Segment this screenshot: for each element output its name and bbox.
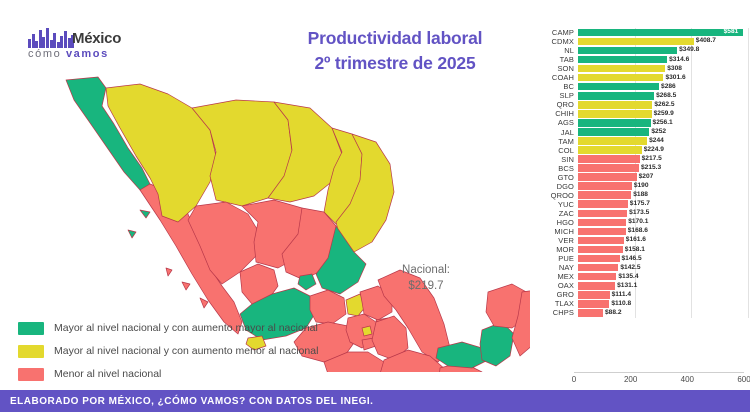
- chart-bar[interactable]: [578, 155, 640, 163]
- chart-gridline: [691, 200, 692, 209]
- chart-row-barzone: $188: [578, 191, 744, 200]
- chart-row-label: OAX: [528, 281, 578, 290]
- chart-row-barzone: $142.5: [578, 263, 744, 272]
- chart-row-barzone: $217.5: [578, 155, 744, 164]
- chart-bar-value: $262.5: [654, 101, 674, 109]
- chart-row-label: GTO: [528, 173, 578, 182]
- x-axis-ticks: 0200400600: [574, 373, 744, 387]
- chart-row-label: MOR: [528, 245, 578, 254]
- chart-row-barzone: $88.2: [578, 308, 744, 317]
- chart-row-label: SLP: [528, 91, 578, 100]
- chart-bar[interactable]: [578, 219, 626, 227]
- chart-row: CHIH$259.9: [528, 109, 744, 118]
- logo-bar: [28, 39, 31, 48]
- island-c: [166, 268, 172, 276]
- chart-row-barzone: $146.5: [578, 254, 744, 263]
- chart-row-barzone: $262.5: [578, 100, 744, 109]
- chart-row: QROO$188: [528, 191, 744, 200]
- chart-row-label: BCS: [528, 164, 578, 173]
- logo-bar: [42, 37, 45, 48]
- state-cdmx: [362, 326, 372, 336]
- chart-row: BC$286: [528, 82, 744, 91]
- chart-row-barzone: $158.1: [578, 245, 744, 254]
- chart-bar[interactable]: [578, 309, 603, 317]
- chart-row-label: TAM: [528, 137, 578, 146]
- chart-bar[interactable]: [578, 291, 610, 299]
- chart-gridline: [691, 146, 692, 155]
- chart-bar-value: $173.5: [629, 209, 649, 217]
- chart-row-label: COL: [528, 146, 578, 155]
- chart-gridline: [691, 109, 692, 118]
- legend-item-green: Mayor al nivel nacional y con aumento ma…: [18, 318, 318, 338]
- chart-row: COAH$301.6: [528, 73, 744, 82]
- legend-label-red: Menor al nivel nacional: [54, 368, 161, 380]
- chart-row: OAX$131.1: [528, 281, 744, 290]
- chart-gridline: [748, 28, 749, 37]
- chart-row-barzone: $175.7: [578, 200, 744, 209]
- chart-gridline: [748, 263, 749, 272]
- chart-row: DGO$190: [528, 182, 744, 191]
- chart-row-barzone: $244: [578, 137, 744, 146]
- chart-bar-value: $256.1: [653, 119, 673, 127]
- chart-row-barzone: $314.6: [578, 55, 744, 64]
- chart-bar[interactable]: [578, 29, 743, 37]
- chart-row: SIN$217.5: [528, 155, 744, 164]
- chart-bar-value: $286: [661, 83, 676, 91]
- legend-item-red: Menor al nivel nacional: [18, 364, 318, 384]
- chart-gridline: [691, 236, 692, 245]
- chart-gridline: [748, 200, 749, 209]
- chart-row-label: CHPS: [528, 308, 578, 317]
- chart-bar-value: $158.1: [625, 246, 645, 254]
- chart-row-barzone: $215.3: [578, 164, 744, 173]
- legend-swatch-yellow: [18, 345, 44, 358]
- chart-bar[interactable]: [578, 83, 659, 91]
- chart-gridline: [691, 128, 692, 137]
- chart-row-label: TAB: [528, 55, 578, 64]
- chart-row: BCS$215.3: [528, 164, 744, 173]
- chart-gridline: [635, 308, 636, 317]
- chart-bar[interactable]: [578, 47, 677, 55]
- chart-gridline: [691, 164, 692, 173]
- chart-row-barzone: $131.1: [578, 281, 744, 290]
- chart-bar-value: $252: [651, 128, 666, 136]
- chart-gridline: [691, 299, 692, 308]
- chart-row: TAM$244: [528, 137, 744, 146]
- chart-row-barzone: $111.4: [578, 290, 744, 299]
- slide-root: México cómo vamos Productividad laboral …: [0, 0, 750, 412]
- chart-row-barzone: $268.5: [578, 91, 744, 100]
- chart-row-label: QRO: [528, 100, 578, 109]
- chart-row-barzone: $581: [578, 28, 744, 37]
- chart-bar[interactable]: [578, 264, 618, 272]
- chart-bar[interactable]: [578, 228, 626, 236]
- chart-gridline: [748, 155, 749, 164]
- chart-row-label: GRO: [528, 290, 578, 299]
- chart-row-label: VER: [528, 236, 578, 245]
- chart-row-barzone: $207: [578, 173, 744, 182]
- chart-bar-value: $268.5: [656, 92, 676, 100]
- legend-label-yellow: Mayor al nivel nacional y con aumento me…: [54, 345, 318, 357]
- chart-bar-value: $301.6: [665, 74, 685, 82]
- chart-gridline: [691, 290, 692, 299]
- logo-bar: [68, 38, 71, 48]
- chart-gridline: [691, 155, 692, 164]
- chart-bar-value: $146.5: [622, 255, 642, 263]
- chart-row-barzone: $408.7: [578, 37, 744, 46]
- chart-bar-value: $175.7: [630, 200, 650, 208]
- chart-bar[interactable]: [578, 273, 616, 281]
- chart-gridline: [691, 263, 692, 272]
- chart-gridline: [748, 227, 749, 236]
- mexico-como-vamos-logo: México cómo vamos: [28, 26, 158, 66]
- chart-gridline: [691, 218, 692, 227]
- chart-gridline: [691, 64, 692, 73]
- national-amount: $219.7: [378, 278, 474, 294]
- legend-label-green: Mayor al nivel nacional y con aumento ma…: [54, 322, 318, 334]
- chart-gridline: [691, 191, 692, 200]
- chart-bar[interactable]: [578, 92, 654, 100]
- legend-item-yellow: Mayor al nivel nacional y con aumento me…: [18, 341, 318, 361]
- chart-row: GTO$207: [528, 173, 744, 182]
- chart-row: JAL$252: [528, 128, 744, 137]
- chart-row: SON$308: [528, 64, 744, 73]
- chart-gridline: [748, 245, 749, 254]
- chart-row-barzone: $256.1: [578, 118, 744, 127]
- chart-bar[interactable]: [578, 128, 649, 136]
- chart-bar-value: $110.8: [611, 300, 631, 308]
- x-axis-tick: 0: [572, 375, 576, 384]
- chart-bar[interactable]: [578, 200, 628, 208]
- chart-row: MICH$168.6: [528, 227, 744, 236]
- chart-bar[interactable]: [578, 101, 652, 109]
- chart-row: ZAC$173.5: [528, 209, 744, 218]
- chart-row-barzone: $308: [578, 64, 744, 73]
- chart-row-label: DGO: [528, 182, 578, 191]
- chart-gridline: [691, 254, 692, 263]
- chart-row-label: SON: [528, 64, 578, 73]
- chart-gridline: [691, 227, 692, 236]
- chart-row-barzone: $170.1: [578, 218, 744, 227]
- chart-bar-value: $207: [639, 173, 654, 181]
- source-footer: ELABORADO POR MÉXICO, ¿CÓMO VAMOS? CON D…: [0, 390, 750, 412]
- chart-bar-value: $142.5: [620, 264, 640, 272]
- logo-bar: [39, 30, 42, 48]
- chart-bar[interactable]: [578, 38, 694, 46]
- chart-row-barzone: $349.8: [578, 46, 744, 55]
- chart-gridline: [748, 55, 749, 64]
- chart-gridline: [691, 55, 692, 64]
- chart-row-barzone: $259.9: [578, 109, 744, 118]
- logo-bar: [46, 28, 49, 48]
- chart-row: CDMX$408.7: [528, 37, 744, 46]
- logo-title: México: [72, 30, 121, 47]
- chart-gridline: [691, 281, 692, 290]
- chart-bar-value: $314.6: [669, 56, 689, 64]
- chart-row-label: QROO: [528, 191, 578, 200]
- chart-row: COL$224.9: [528, 146, 744, 155]
- chart-row-label: CAMP: [528, 28, 578, 37]
- logo-bar: [64, 31, 67, 48]
- chart-row-barzone: $224.9: [578, 146, 744, 155]
- chart-row-label: ZAC: [528, 209, 578, 218]
- chart-row: TAB$314.6: [528, 55, 744, 64]
- island-b: [128, 230, 136, 238]
- chart-gridline: [748, 173, 749, 182]
- chart-bar-value: $349.8: [679, 46, 699, 54]
- chart-bar-value: $111.4: [612, 291, 631, 299]
- legend-swatch-green: [18, 322, 44, 335]
- island-e: [200, 298, 208, 308]
- chart-gridline: [748, 308, 749, 317]
- chart-gridline: [748, 191, 749, 200]
- chart-row-label: NAY: [528, 263, 578, 272]
- chart-bar-value: $131.1: [617, 282, 637, 290]
- logo-bar: [53, 33, 56, 48]
- chart-bar[interactable]: [578, 182, 632, 190]
- chart-gridline: [748, 37, 749, 46]
- chart-gridline: [748, 209, 749, 218]
- chart-gridline: [691, 245, 692, 254]
- x-axis-tick: 600: [737, 375, 750, 384]
- chart-gridline: [691, 91, 692, 100]
- chart-row-label: TLAX: [528, 299, 578, 308]
- chart-row-barzone: $301.6: [578, 73, 744, 82]
- chart-gridline: [691, 100, 692, 109]
- chart-gridline: [748, 128, 749, 137]
- chart-bar-value: $224.9: [644, 146, 664, 154]
- chart-bar[interactable]: [578, 74, 663, 82]
- productivity-bar-chart: CAMP$581CDMX$408.7NL$349.8TAB$314.6SON$3…: [528, 28, 744, 380]
- chart-gridline: [691, 73, 692, 82]
- chart-row-label: BC: [528, 82, 578, 91]
- chart-gridline: [748, 64, 749, 73]
- chart-bar[interactable]: [578, 282, 615, 290]
- chart-bar-value: $217.5: [642, 155, 662, 163]
- island-d: [182, 282, 190, 290]
- chart-bar-value: $581: [724, 28, 739, 36]
- chart-row-label: COAH: [528, 73, 578, 82]
- chart-row: PUE$146.5: [528, 254, 744, 263]
- chart-gridline: [748, 100, 749, 109]
- logo-subtitle: cómo vamos: [28, 48, 109, 60]
- chart-row: NAY$142.5: [528, 263, 744, 272]
- chart-bar[interactable]: [578, 146, 642, 154]
- national-value-annotation: Nacional: $219.7: [378, 262, 474, 294]
- chart-row: QRO$262.5: [528, 100, 744, 109]
- chart-row: SLP$268.5: [528, 91, 744, 100]
- chart-gridline: [748, 118, 749, 127]
- chart-gridline: [748, 164, 749, 173]
- chart-row-label: HGO: [528, 218, 578, 227]
- chart-gridline: [748, 91, 749, 100]
- bar-chart-rows: CAMP$581CDMX$408.7NL$349.8TAB$314.6SON$3…: [528, 28, 744, 318]
- logo-subtitle-vamos: vamos: [66, 48, 109, 60]
- chart-row-label: AGS: [528, 118, 578, 127]
- chart-gridline: [635, 290, 636, 299]
- chart-row-label: CDMX: [528, 37, 578, 46]
- chart-gridline: [691, 209, 692, 218]
- chart-row-label: JAL: [528, 128, 578, 137]
- chart-bar[interactable]: [578, 237, 624, 245]
- chart-row-barzone: $110.8: [578, 299, 744, 308]
- chart-bar[interactable]: [578, 119, 651, 127]
- chart-row-barzone: $173.5: [578, 209, 744, 218]
- page-title: Productividad laboral 2º trimestre de 20…: [250, 26, 540, 76]
- chart-row: NL$349.8: [528, 46, 744, 55]
- logo-bar: [32, 34, 35, 48]
- chart-gridline: [748, 46, 749, 55]
- chart-gridline: [748, 272, 749, 281]
- chart-row: CAMP$581: [528, 28, 744, 37]
- chart-bar-value: $170.1: [628, 218, 648, 226]
- chart-gridline: [748, 299, 749, 308]
- state-campeche: [480, 322, 514, 366]
- chart-row-label: NL: [528, 46, 578, 55]
- chart-row: CHPS$88.2: [528, 308, 744, 317]
- chart-row: VER$161.6: [528, 236, 744, 245]
- chart-gridline: [691, 308, 692, 317]
- chart-row: AGS$256.1: [528, 118, 744, 127]
- chart-row-label: CHIH: [528, 109, 578, 118]
- legend-swatch-red: [18, 368, 44, 381]
- chart-gridline: [691, 182, 692, 191]
- chart-bar[interactable]: [578, 137, 647, 145]
- chart-row: TLAX$110.8: [528, 299, 744, 308]
- chart-row-label: MICH: [528, 227, 578, 236]
- x-axis-tick: 200: [624, 375, 637, 384]
- chart-bar-value: $308: [667, 65, 682, 73]
- chart-row-barzone: $190: [578, 182, 744, 191]
- chart-bar-value: $408.7: [696, 37, 716, 45]
- chart-gridline: [691, 272, 692, 281]
- chart-gridline: [748, 182, 749, 191]
- chart-gridline: [748, 73, 749, 82]
- chart-bar-value: $188: [633, 191, 648, 199]
- chart-bar[interactable]: [578, 210, 627, 218]
- logo-bars-icon: [28, 26, 76, 48]
- chart-bar-value: $88.2: [605, 309, 622, 317]
- island-a: [140, 210, 150, 218]
- chart-gridline: [691, 173, 692, 182]
- chart-gridline: [748, 109, 749, 118]
- chart-bar-value: $135.4: [618, 273, 638, 281]
- chart-bar[interactable]: [578, 164, 639, 172]
- chart-bar-value: $259.9: [654, 110, 674, 118]
- chart-gridline: [691, 118, 692, 127]
- chart-row-label: YUC: [528, 200, 578, 209]
- chart-row-barzone: $286: [578, 82, 744, 91]
- chart-row-barzone: $135.4: [578, 272, 744, 281]
- chart-gridline: [748, 82, 749, 91]
- chart-row: HGO$170.1: [528, 218, 744, 227]
- chart-bar[interactable]: [578, 65, 665, 73]
- chart-row-barzone: $252: [578, 128, 744, 137]
- chart-gridline: [691, 82, 692, 91]
- chart-row: GRO$111.4: [528, 290, 744, 299]
- logo-bar: [60, 36, 63, 48]
- national-label: Nacional:: [378, 262, 474, 278]
- chart-bar[interactable]: [578, 56, 667, 64]
- chart-bar[interactable]: [578, 255, 620, 263]
- chart-row-label: SIN: [528, 155, 578, 164]
- chart-gridline: [748, 281, 749, 290]
- chart-gridline: [748, 137, 749, 146]
- chart-gridline: [748, 254, 749, 263]
- chart-gridline: [691, 137, 692, 146]
- chart-row: YUC$175.7: [528, 200, 744, 209]
- chart-bar-value: $168.6: [628, 227, 648, 235]
- chart-gridline: [748, 290, 749, 299]
- chart-bar[interactable]: [578, 191, 631, 199]
- chart-bar-value: $190: [634, 182, 649, 190]
- chart-row-barzone: $161.6: [578, 236, 744, 245]
- chart-bar[interactable]: [578, 173, 637, 181]
- chart-gridline: [748, 218, 749, 227]
- chart-row: MEX$135.4: [528, 272, 744, 281]
- chart-bar[interactable]: [578, 300, 609, 308]
- chart-bar-value: $161.6: [626, 236, 646, 244]
- state-aguascalientes: [298, 274, 316, 290]
- logo-subtitle-como: cómo: [28, 48, 61, 60]
- x-axis-tick: 400: [681, 375, 694, 384]
- chart-gridline: [635, 299, 636, 308]
- chart-bar[interactable]: [578, 110, 652, 118]
- map-legend: Mayor al nivel nacional y con aumento ma…: [18, 318, 318, 387]
- chart-bar-value: $215.3: [641, 164, 661, 172]
- chart-row: MOR$158.1: [528, 245, 744, 254]
- logo-bar: [35, 41, 38, 48]
- title-line-1: Productividad laboral: [250, 26, 540, 51]
- chart-row-label: MEX: [528, 272, 578, 281]
- chart-bar[interactable]: [578, 246, 623, 254]
- chart-row-label: PUE: [528, 254, 578, 263]
- chart-gridline: [748, 236, 749, 245]
- chart-row-barzone: $168.6: [578, 227, 744, 236]
- chart-bar-value: $244: [649, 137, 664, 145]
- logo-bar: [50, 40, 53, 48]
- chart-gridline: [748, 146, 749, 155]
